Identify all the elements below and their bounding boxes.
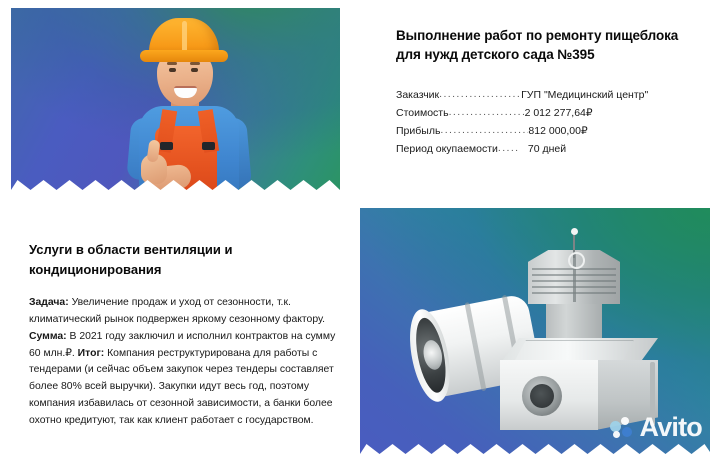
avito-logo-icon — [610, 417, 636, 439]
hardhat-icon — [149, 18, 219, 58]
spec-leader-dots: .............................. — [439, 89, 521, 100]
hardhat-ridge — [182, 21, 187, 57]
spec-key: Период окупаемости — [396, 140, 498, 158]
worker-buckle-left — [160, 142, 173, 150]
zigzag-edge-top-photo — [11, 179, 340, 191]
services-body: Задача: Увеличение продаж и уход от сезо… — [29, 295, 341, 430]
case-brief: Выполнение работ по ремонту пищеблока дл… — [396, 26, 696, 159]
spec-value: 812 000,00₽ — [528, 122, 587, 140]
zigzag-edge-bottom-photo — [360, 443, 710, 455]
case-title: Выполнение работ по ремонту пищеблока дл… — [396, 26, 696, 64]
listing-page: Выполнение работ по ремонту пищеблока дл… — [0, 0, 720, 463]
roof-fan-knob — [571, 228, 578, 235]
worker-eye-left — [169, 68, 176, 72]
avito-wordmark: Avito — [640, 414, 703, 441]
case-spec-list: Заказчик .............................. … — [396, 86, 696, 158]
worker-buckle-right — [202, 142, 215, 150]
spec-value: ГУП "Медицинский центр" — [521, 86, 648, 104]
task-text: Увеличение продаж и уход от сезонности, … — [29, 297, 325, 325]
photo-worker[interactable] — [11, 8, 340, 191]
avito-watermark: Avito — [610, 414, 703, 441]
worker-brow-left — [167, 62, 177, 65]
spec-leader-dots: .......................... — [449, 107, 525, 118]
spec-row-profit: Прибыль ............................ 812… — [396, 122, 696, 140]
spec-row-cost: Стоимость .......................... 2 0… — [396, 104, 696, 122]
sum-label: Сумма: — [29, 331, 67, 342]
spec-key: Заказчик — [396, 86, 439, 104]
spec-value: 2 012 277,64₽ — [525, 104, 593, 122]
worker-eye-right — [191, 68, 198, 72]
spec-row-payback: Период окупаемости ..... 70 дней — [396, 140, 696, 158]
spec-key: Стоимость — [396, 104, 449, 122]
roof-fan-ring — [568, 252, 585, 269]
box-fan-outlet-port — [522, 376, 562, 416]
worker-brow-right — [190, 62, 200, 65]
worker-illustration — [115, 14, 265, 191]
spec-row-customer: Заказчик .............................. … — [396, 86, 696, 104]
result-label: Итог: — [78, 348, 105, 359]
worker-smile — [174, 86, 197, 98]
result-text: Компания реструктурирована для работы с … — [29, 348, 334, 426]
box-fan-access-panel — [514, 340, 634, 362]
photo-ventilation-equipment[interactable]: Avito — [360, 208, 710, 455]
spec-leader-dots: ............................ — [440, 125, 528, 136]
spec-leader-dots: ..... — [498, 143, 528, 154]
services-block: Услуги в области вентиляции и кондициони… — [29, 240, 341, 430]
services-title: Услуги в области вентиляции и кондициони… — [29, 240, 341, 279]
spec-key: Прибыль — [396, 122, 440, 140]
spec-value: 70 дней — [528, 140, 566, 158]
task-label: Задача: — [29, 297, 69, 308]
